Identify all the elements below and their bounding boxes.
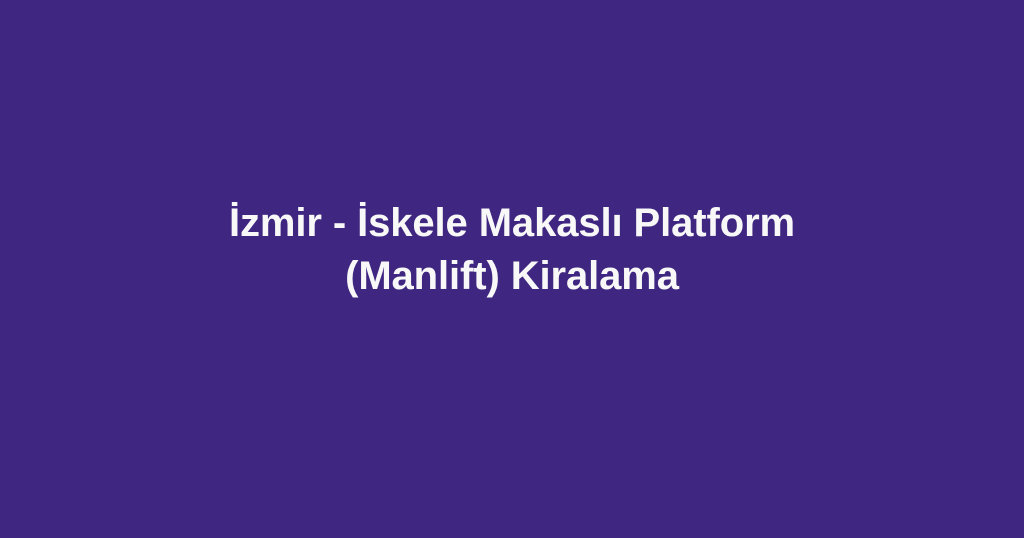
page-title-line-2: (Manlift) Kiralama [229,250,795,303]
page-title-line-1: İzmir - İskele Makaslı Platform [229,197,795,250]
page-title: İzmir - İskele Makaslı Platform (Manlift… [229,197,795,303]
banner-content: İzmir - İskele Makaslı Platform (Manlift… [0,197,1024,303]
share-banner: İzmir - İskele Makaslı Platform (Manlift… [0,0,1024,538]
